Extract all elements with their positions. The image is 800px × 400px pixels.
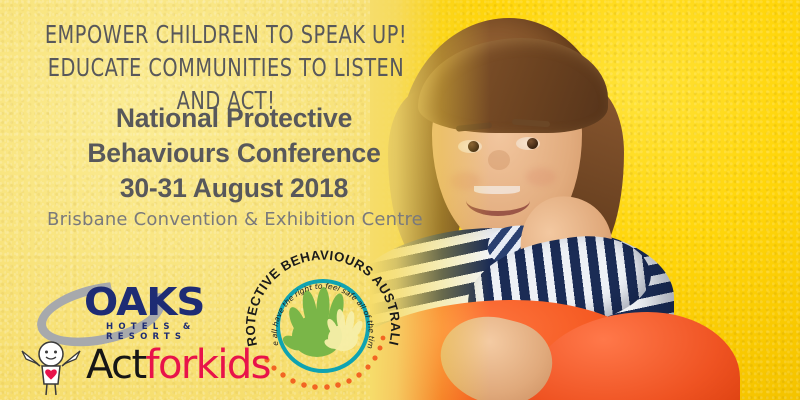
event-dates: 30-31 August 2018	[0, 171, 468, 206]
conference-banner: Empower children to speak up! Educate co…	[0, 0, 800, 400]
act-for-kids-logo: Actforkids	[14, 338, 260, 396]
event-title: National Protective Behaviours Conferenc…	[0, 101, 468, 206]
oaks-wordmark: OAKS	[84, 280, 204, 324]
event-title-line-1: National Protective	[0, 101, 468, 136]
for-word: for	[146, 342, 196, 388]
event-venue: Brisbane Convention & Exhibition Centre	[0, 209, 470, 230]
tagline-line-1: Empower children to speak up!	[32, 18, 421, 51]
oaks-logo: OAKS HOTELS & RESORTS	[36, 278, 232, 334]
kids-word: kids	[196, 342, 270, 388]
act-word: Act	[86, 342, 146, 388]
eye-right	[516, 137, 540, 150]
nose	[488, 150, 510, 170]
pupil-right	[527, 138, 538, 149]
cheek-right	[526, 168, 556, 186]
act-for-kids-child-icon	[18, 340, 86, 396]
act-for-kids-wordmark: Actforkids	[86, 342, 270, 388]
event-title-line-2: Behaviours Conference	[0, 136, 468, 171]
